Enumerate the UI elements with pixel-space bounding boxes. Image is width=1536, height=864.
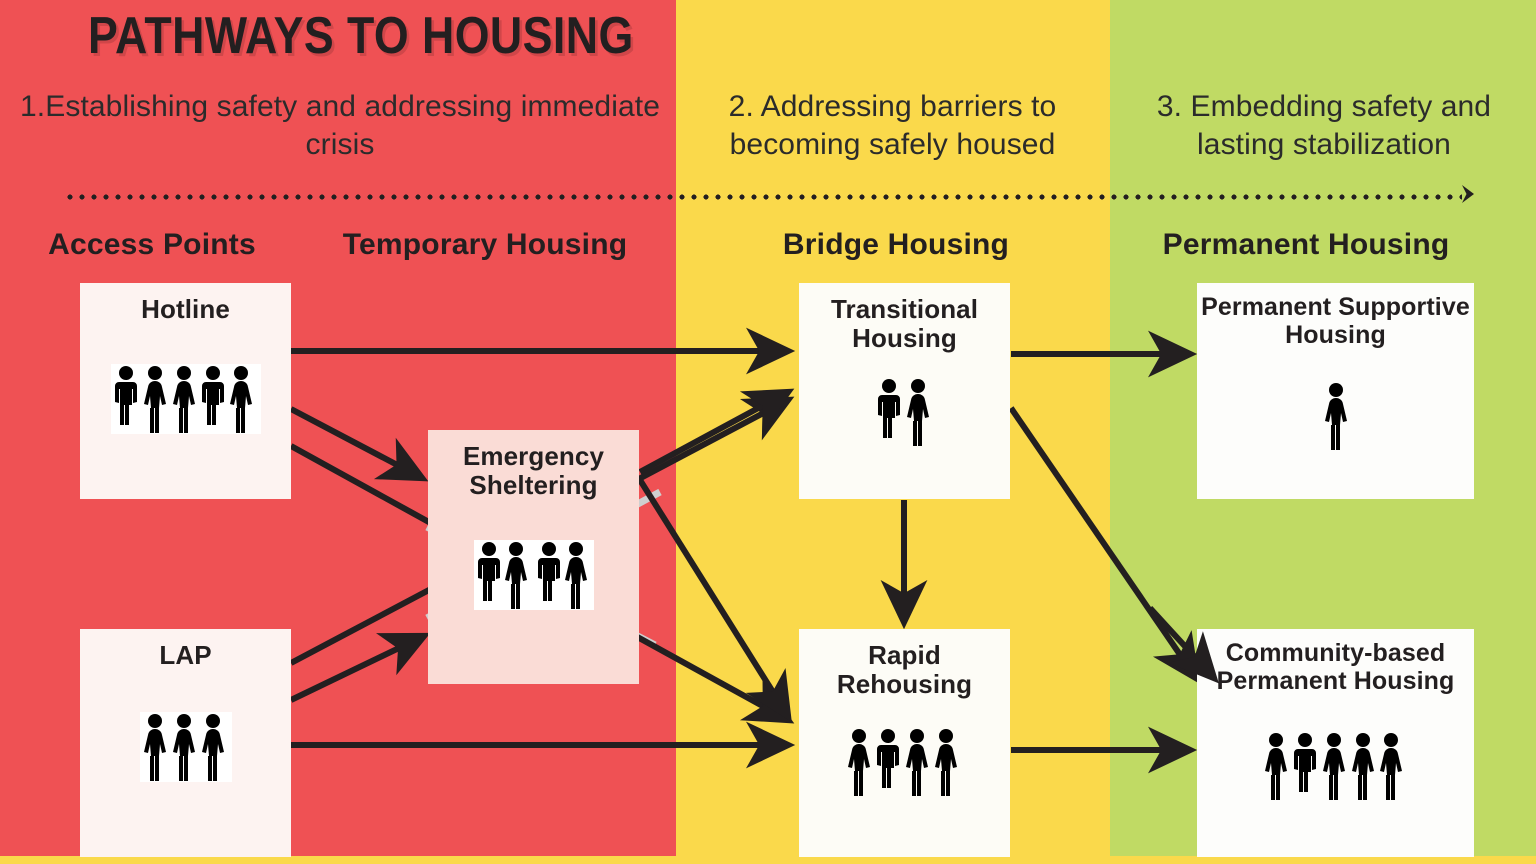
column-header-bridge-housing: Bridge Housing [756,228,1036,262]
node-rapid-rehousing-label: Rapid Rehousing [799,641,1010,699]
node-hotline[interactable]: Hotline [80,283,291,499]
node-emergency-sheltering-label: Emergency Sheltering [428,442,639,500]
timeline-dotted-line [64,194,1462,200]
people-group-icon [1261,731,1411,801]
node-emergency-sheltering[interactable]: Emergency Sheltering [428,430,639,684]
chevron-right-icon [1459,183,1479,205]
node-transitional-housing-label: Transitional Housing [799,295,1010,353]
timeline [64,190,1479,204]
column-header-temporary-housing: Temporary Housing [300,228,670,262]
phase-1-caption: 1.Establishing safety and addressing imm… [20,88,660,165]
node-community-based-permanent-housing-label: Community-based Permanent Housing [1197,639,1474,695]
column-header-access-points: Access Points [28,228,276,262]
bottom-strip [0,856,1536,864]
pathways-to-housing-diagram: PATHWAYS TO HOUSING 1.Establishing safet… [0,0,1536,864]
people-group-icon [474,540,594,610]
people-pair-right [534,540,594,610]
node-lap-label: LAP [159,641,211,670]
people-group-icon [873,377,937,447]
people-group-icon [844,727,966,797]
node-hotline-label: Hotline [141,295,230,324]
node-permanent-supportive-housing[interactable]: Permanent Supportive Housing [1197,283,1474,499]
node-permanent-supportive-housing-label: Permanent Supportive Housing [1197,293,1474,349]
phase-3-caption: 3. Embedding safety and lasting stabiliz… [1118,88,1530,165]
phase-2-caption: 2. Addressing barriers to becoming safel… [680,88,1105,165]
people-pair-left [474,540,534,610]
node-lap[interactable]: LAP [80,629,291,857]
column-header-permanent-housing: Permanent Housing [1122,228,1490,262]
person-icon [1319,381,1353,451]
page-title: PATHWAYS TO HOUSING [88,8,634,64]
node-transitional-housing[interactable]: Transitional Housing [799,283,1010,499]
people-group-icon [140,712,232,782]
node-rapid-rehousing[interactable]: Rapid Rehousing [799,629,1010,857]
people-group-icon [111,364,261,434]
node-community-based-permanent-housing[interactable]: Community-based Permanent Housing [1197,629,1474,857]
